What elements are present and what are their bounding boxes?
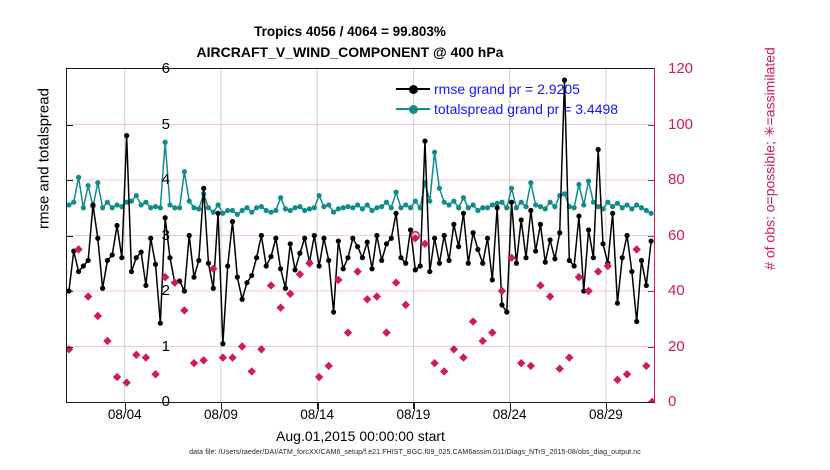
y-axis-right-label: # of obs: o=possible; ✳=assimilated <box>762 0 779 329</box>
x-tick-08/24: 08/24 <box>475 407 545 422</box>
title-line-2: AIRCRAFT_V_WIND_COMPONENT @ 400 hPa <box>0 42 700 62</box>
x-tickmark-08/19 <box>413 403 414 409</box>
x-axis-label: Aug.01,2015 00:00:00 start <box>66 428 655 444</box>
y-tickmark-left-1 <box>66 347 73 348</box>
x-tick-08/19: 08/19 <box>378 407 448 422</box>
y-tick-right-20: 20 <box>668 338 714 355</box>
chart-canvas: Tropics 4056 / 4064 = 99.803% AIRCRAFT_V… <box>0 0 830 470</box>
y-tick-left-2: 2 <box>130 282 170 299</box>
y-tickmark-right-80 <box>648 180 655 181</box>
rmse-line-icon <box>396 82 430 96</box>
y-tickmark-right-60 <box>648 236 655 237</box>
y-tickmark-left-2 <box>66 291 73 292</box>
x-tick-08/09: 08/09 <box>186 407 256 422</box>
y-tickmark-right-100 <box>648 125 655 126</box>
y-tick-right-100: 100 <box>668 116 714 133</box>
chart-legend: rmse grand pr = 2.9205 totalspread grand… <box>396 79 618 119</box>
legend-item-totalspread[interactable]: totalspread grand pr = 3.4498 <box>396 99 618 119</box>
x-tick-08/14: 08/14 <box>282 407 352 422</box>
x-tickmark-08/24 <box>510 403 511 409</box>
y-tick-left-4: 4 <box>130 171 170 188</box>
y-tickmark-right-20 <box>648 347 655 348</box>
y-axis-left-label: rmse and totalspread <box>36 9 53 309</box>
x-tickmark-08/04 <box>125 403 126 409</box>
x-tickmark-08/29 <box>606 403 607 409</box>
data-file-footer: data file: /Users/raeder/DAI/ATM_forcXX/… <box>0 449 830 456</box>
y-tick-right-40: 40 <box>668 282 714 299</box>
y-tick-right-60: 60 <box>668 227 714 244</box>
y-tick-left-6: 6 <box>130 60 170 77</box>
y-tickmark-left-5 <box>66 125 73 126</box>
y-tickmark-left-4 <box>66 180 73 181</box>
y-tick-right-0: 0 <box>668 393 714 410</box>
legend-label-totalspread: totalspread grand pr = 3.4498 <box>434 99 618 119</box>
x-tickmark-08/14 <box>317 403 318 409</box>
y-tick-right-80: 80 <box>668 171 714 188</box>
y-tick-left-1: 1 <box>130 338 170 355</box>
chart-title: Tropics 4056 / 4064 = 99.803% AIRCRAFT_V… <box>0 22 700 62</box>
y-tick-left-5: 5 <box>130 116 170 133</box>
x-tickmark-08/09 <box>221 403 222 409</box>
y-tick-right-120: 120 <box>668 60 714 77</box>
y-tick-left-3: 3 <box>130 227 170 244</box>
legend-label-rmse: rmse grand pr = 2.9205 <box>434 79 580 99</box>
x-tick-08/29: 08/29 <box>571 407 641 422</box>
y-tickmark-right-40 <box>648 291 655 292</box>
y-tickmark-left-3 <box>66 236 73 237</box>
totalspread-line-icon <box>396 102 430 116</box>
title-line-1: Tropics 4056 / 4064 = 99.803% <box>0 22 700 42</box>
legend-item-rmse[interactable]: rmse grand pr = 2.9205 <box>396 79 618 99</box>
x-tick-08/04: 08/04 <box>90 407 160 422</box>
